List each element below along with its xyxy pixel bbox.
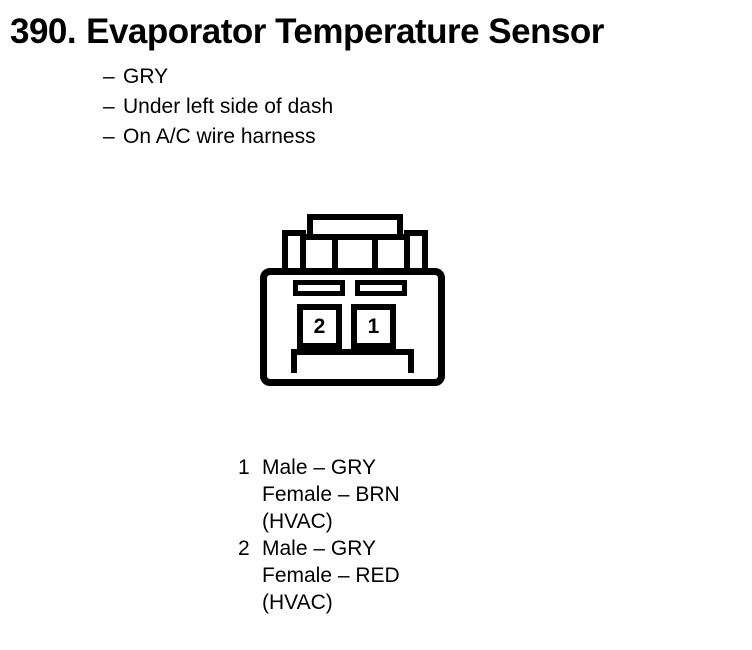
page-title-number: 390. bbox=[10, 12, 76, 51]
connector-cavity-1: 1 bbox=[351, 304, 396, 349]
bullet-dash-icon: – bbox=[103, 62, 123, 92]
connector-slot-left bbox=[293, 280, 345, 296]
legend-pin-details: Male – GRY Female – RED (HVAC) bbox=[262, 535, 400, 616]
pin-legend: 1 Male – GRY Female – BRN (HVAC) 2 Male … bbox=[238, 454, 400, 616]
connector-bracket-right bbox=[408, 349, 414, 373]
spec-item-label: GRY bbox=[123, 65, 168, 88]
spec-item-color: –GRY bbox=[103, 62, 333, 92]
page-title-text: Evaporator Temperature Sensor bbox=[86, 12, 604, 51]
legend-pin-number: 1 bbox=[238, 454, 262, 481]
spec-item-label: Under left side of dash bbox=[123, 95, 333, 118]
page-title: 390.Evaporator Temperature Sensor bbox=[10, 12, 604, 52]
legend-male-wire: Male – GRY bbox=[262, 535, 400, 562]
legend-female-wire: Female – RED bbox=[262, 562, 400, 589]
legend-system: (HVAC) bbox=[262, 589, 400, 616]
legend-system: (HVAC) bbox=[262, 508, 400, 535]
legend-entry-pin-1: 1 Male – GRY Female – BRN (HVAC) bbox=[238, 454, 400, 535]
spec-item-label: On A/C wire harness bbox=[123, 125, 316, 148]
spec-list: –GRY –Under left side of dash –On A/C wi… bbox=[103, 62, 333, 152]
connector-bracket-left bbox=[291, 349, 297, 373]
legend-female-wire: Female – BRN bbox=[262, 481, 400, 508]
bullet-dash-icon: – bbox=[103, 92, 123, 122]
legend-pin-details: Male – GRY Female – BRN (HVAC) bbox=[262, 454, 400, 535]
connector-bracket-top bbox=[291, 349, 414, 355]
connector-diagram: 2 1 bbox=[255, 208, 450, 393]
bullet-dash-icon: – bbox=[103, 122, 123, 152]
legend-pin-number: 2 bbox=[238, 535, 262, 562]
spec-item-location: –Under left side of dash bbox=[103, 92, 333, 122]
connector-slot-right bbox=[355, 280, 407, 296]
legend-entry-pin-2: 2 Male – GRY Female – RED (HVAC) bbox=[238, 535, 400, 616]
legend-male-wire: Male – GRY bbox=[262, 454, 400, 481]
spec-item-harness: –On A/C wire harness bbox=[103, 122, 333, 152]
connector-cavity-2: 2 bbox=[297, 304, 342, 349]
